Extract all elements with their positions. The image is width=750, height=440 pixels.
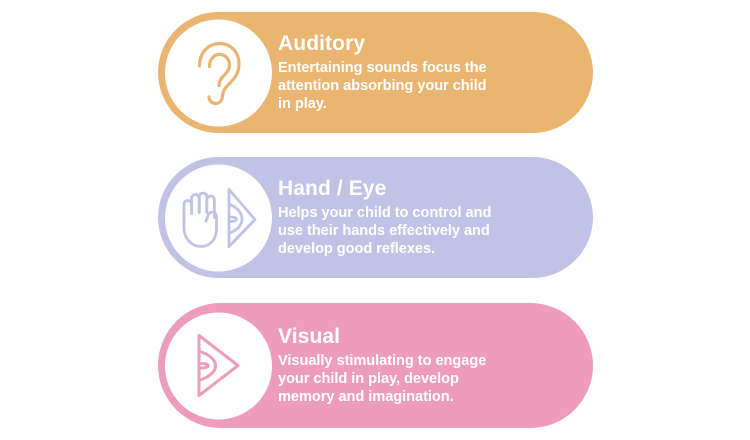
benefit-card-visual: Visual Visually stimulating to engage yo… [158, 303, 593, 428]
benefit-card-hand-eye: Hand / Eye Helps your child to control a… [158, 157, 593, 278]
card-text-hand-eye: Hand / Eye Helps your child to control a… [278, 177, 575, 259]
benefit-card-auditory: Auditory Entertaining sounds focus the a… [158, 12, 593, 133]
card-description-line: memory and imagination. [278, 388, 575, 406]
card-title: Auditory [278, 32, 575, 56]
card-description: Visually stimulating to engage your chil… [278, 352, 575, 407]
card-description-line: Entertaining sounds focus the [278, 59, 575, 77]
icon-badge-auditory [165, 19, 272, 126]
card-description: Helps your child to control and use thei… [278, 204, 575, 259]
card-description-line: attention absorbing your child [278, 77, 575, 95]
card-description-line: Helps your child to control and [278, 204, 575, 222]
card-description-line: your child in play, develop [278, 370, 575, 388]
card-description-line: Visually stimulating to engage [278, 352, 575, 370]
card-title: Hand / Eye [278, 177, 575, 201]
card-description: Entertaining sounds focus the attention … [278, 59, 575, 114]
card-description-line: develop good reflexes. [278, 240, 575, 258]
card-text-visual: Visual Visually stimulating to engage yo… [278, 325, 575, 407]
ear-icon [186, 38, 252, 108]
icon-badge-hand-eye [165, 164, 272, 271]
hand-and-eye-icon [176, 184, 262, 252]
card-title: Visual [278, 325, 575, 349]
eye-icon [190, 331, 248, 401]
card-description-line: use their hands effectively and [278, 222, 575, 240]
icon-badge-visual [165, 312, 272, 419]
card-text-auditory: Auditory Entertaining sounds focus the a… [278, 32, 575, 114]
benefits-infographic: Auditory Entertaining sounds focus the a… [0, 0, 750, 440]
card-description-line: in play. [278, 95, 575, 113]
